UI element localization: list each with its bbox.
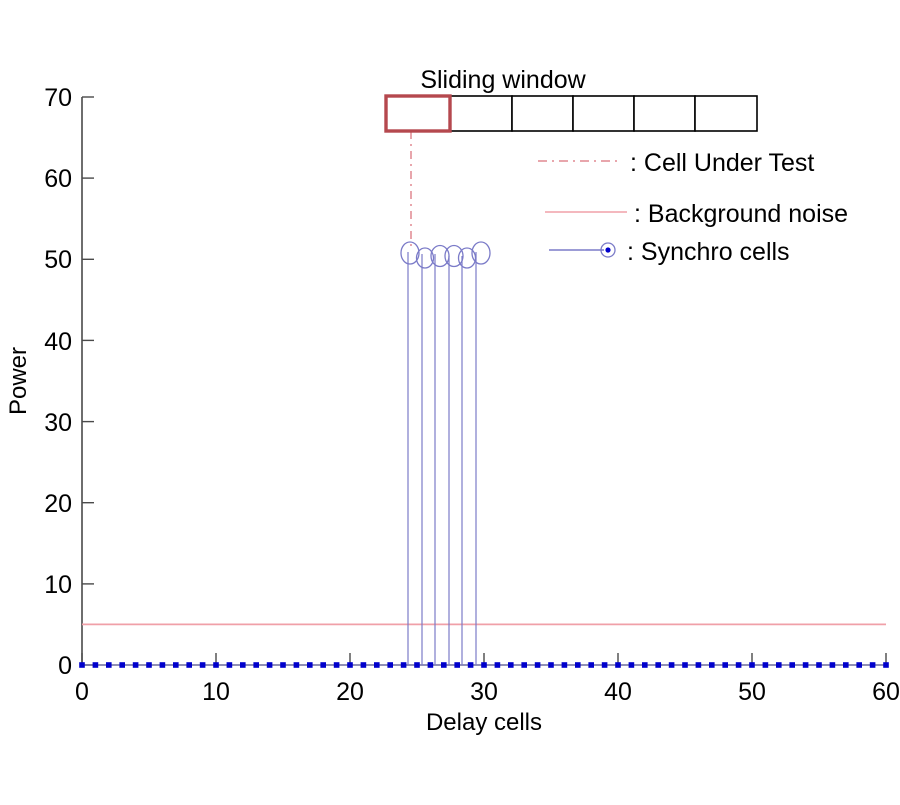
sliding-window-cell-4[interactable]: [573, 96, 634, 131]
y-tick-label-0: 0: [58, 652, 72, 680]
sliding-window-cell-under-test[interactable]: [386, 96, 450, 131]
sliding-window[interactable]: [386, 96, 757, 131]
sliding-window-cell-5[interactable]: [634, 96, 695, 131]
y-tick-label-50: 50: [44, 246, 72, 274]
x-tick-label-20: 20: [336, 678, 364, 706]
sliding-window-cell-2[interactable]: [450, 96, 512, 131]
y-tick-label-10: 10: [44, 571, 72, 599]
x-tick-label-10: 10: [202, 678, 230, 706]
x-tick-label-50: 50: [738, 678, 766, 706]
sliding-window-cell-6[interactable]: [695, 96, 757, 131]
synchro-baseline-markers: [79, 662, 889, 668]
sliding-window-cell-3[interactable]: [512, 96, 573, 131]
x-tick-label-60: 60: [872, 678, 900, 706]
legend-swatch-synchro-dot: [605, 247, 610, 252]
y-tick-label-20: 20: [44, 490, 72, 518]
x-tick-label-30: 30: [470, 678, 498, 706]
y-tick-label-30: 30: [44, 409, 72, 437]
legend-label-background-noise: : Background noise: [634, 200, 848, 228]
x-tick-label-40: 40: [604, 678, 632, 706]
legend-label-synchro-cells: : Synchro cells: [627, 238, 790, 266]
chart-svg: 0 10 20 30 40 50 60 70 0 10 20 30 40 50 …: [0, 0, 900, 800]
x-axis-title: Delay cells: [426, 709, 542, 736]
sliding-window-title: Sliding window: [420, 66, 586, 94]
y-axis-title: Power: [5, 347, 32, 415]
y-tick-label-40: 40: [44, 328, 72, 356]
x-tick-label-0: 0: [75, 678, 89, 706]
y-tick-label-70: 70: [44, 84, 72, 112]
y-tick-label-60: 60: [44, 165, 72, 193]
synchro-baseline: [79, 662, 889, 668]
legend-label-cell-under-test: : Cell Under Test: [630, 149, 814, 177]
chart-figure: 0 10 20 30 40 50 60 70 0 10 20 30 40 50 …: [0, 0, 900, 800]
